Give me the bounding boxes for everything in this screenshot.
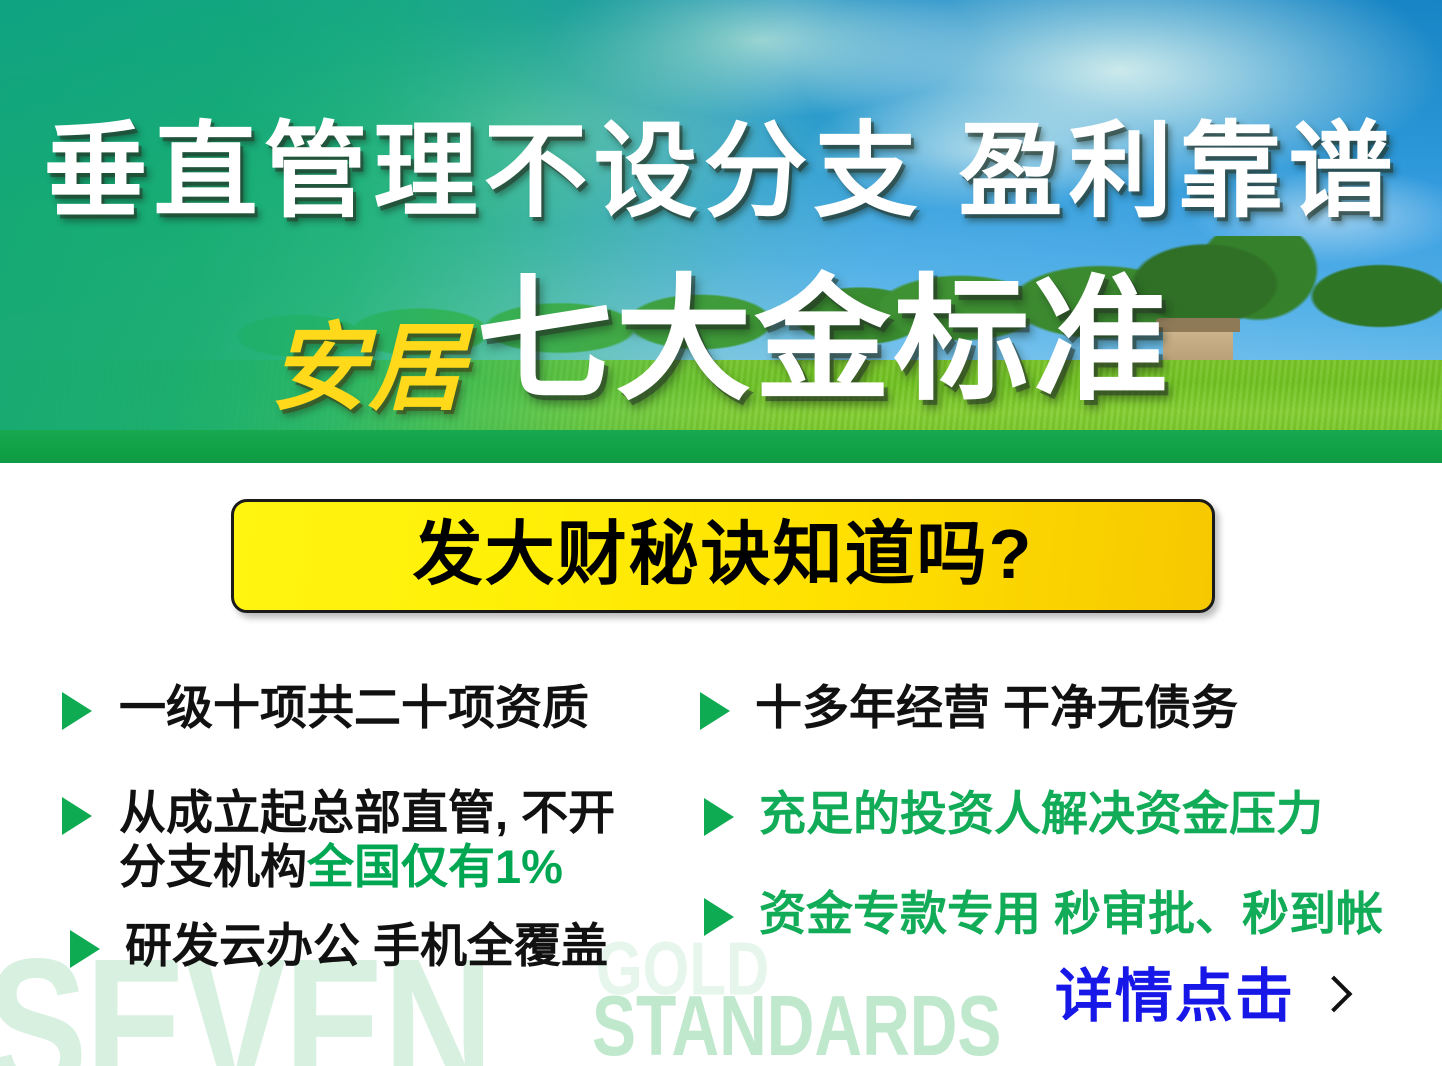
feature-item-left-1-text: 一级十项共二十项资质	[119, 681, 589, 735]
highlight-banner-text: 发大财秘诀知道吗?	[413, 519, 1034, 593]
feature-item-left-2: 从成立起总部直管, 不开 分支机构全国仅有1%	[62, 786, 615, 893]
hero-banner: 垂直管理不设分支 盈利靠谱 安居七大金标准	[0, 0, 1442, 463]
triangle-right-icon	[700, 692, 730, 730]
green-bottom-strip	[0, 430, 1442, 463]
hero-subline-text: 七大金标准	[477, 272, 1172, 408]
feature-item-left-2-line1: 从成立起总部直管, 不开	[119, 786, 615, 839]
feature-item-left-2-line2-highlight: 全国仅有1%	[307, 840, 563, 893]
feature-item-right-3: 资金专款专用 秒审批、秒到帐	[704, 887, 1383, 941]
feature-list: 一级十项共二十项资质 从成立起总部直管, 不开 分支机构全国仅有1% 研发云办公…	[0, 648, 1442, 988]
poster-root: 垂直管理不设分支 盈利靠谱 安居七大金标准 发大财秘诀知道吗? SEVEN GO…	[0, 0, 1442, 1066]
triangle-right-icon	[62, 692, 92, 730]
feature-item-right-2-text: 充足的投资人解决资金压力	[759, 787, 1323, 841]
details-cta[interactable]: 详情点击	[1055, 968, 1345, 1026]
highlight-banner[interactable]: 发大财秘诀知道吗?	[231, 499, 1215, 613]
brand-word: 安居	[271, 321, 467, 417]
feature-item-left-2-line2-black: 分支机构	[119, 840, 307, 893]
triangle-right-icon	[70, 930, 100, 968]
hero-subheadline: 安居七大金标准	[0, 272, 1442, 408]
feature-item-left-3-text: 研发云办公 手机全覆盖	[125, 919, 608, 973]
feature-item-right-1: 十多年经营 干净无债务	[700, 681, 1238, 735]
watermark-standards: STANDARDS	[592, 982, 1001, 1066]
feature-item-right-1-text: 十多年经营 干净无债务	[755, 681, 1238, 735]
feature-item-right-3-text: 资金专款专用 秒审批、秒到帐	[759, 887, 1383, 941]
feature-item-left-2-text: 从成立起总部直管, 不开 分支机构全国仅有1%	[119, 786, 615, 893]
feature-item-left-1: 一级十项共二十项资质	[62, 681, 589, 735]
triangle-right-icon	[704, 798, 734, 836]
hero-headline: 垂直管理不设分支 盈利靠谱	[0, 120, 1442, 224]
feature-item-right-2: 充足的投资人解决资金压力	[704, 787, 1323, 841]
triangle-right-icon	[62, 797, 92, 835]
feature-item-left-3: 研发云办公 手机全覆盖	[70, 919, 608, 973]
triangle-right-icon	[704, 898, 734, 936]
chevron-right-icon	[1319, 975, 1345, 1019]
details-cta-label: 详情点击	[1055, 968, 1295, 1026]
